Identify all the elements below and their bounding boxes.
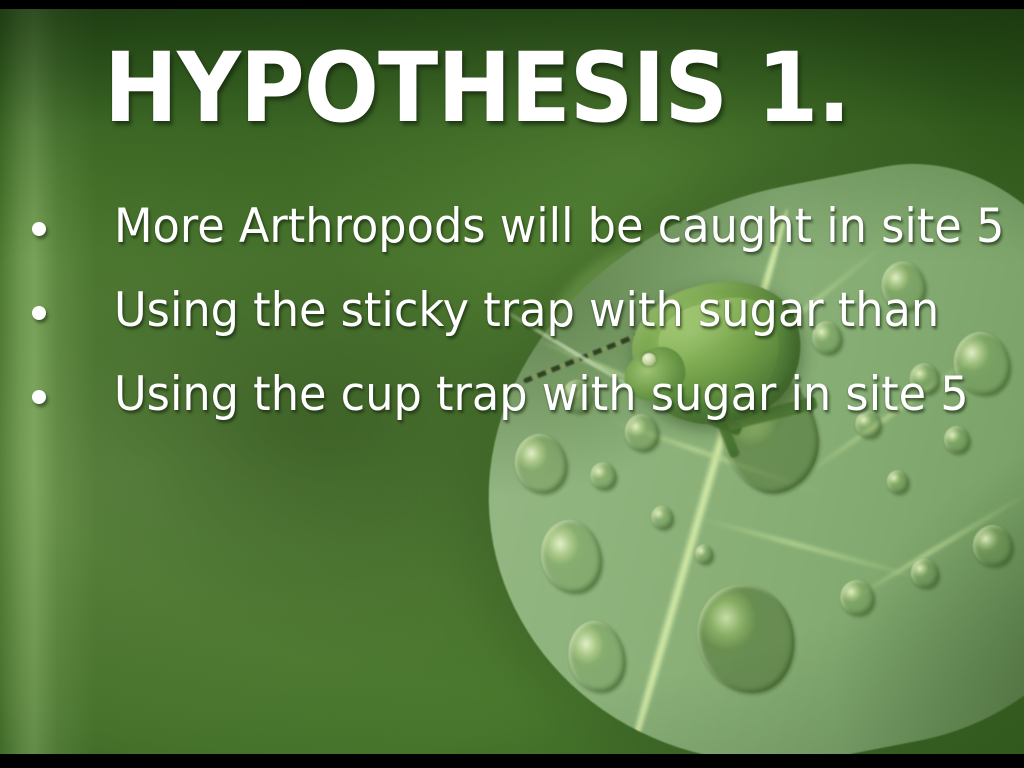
letterbox-bar-top <box>0 0 1024 9</box>
list-item: Using the cup trap with sugar in site 5 <box>0 364 1024 448</box>
letterbox-bar-bottom <box>0 754 1024 768</box>
bullet-text: More Arthropods will be caught in site 5 <box>114 196 1004 258</box>
list-item: More Arthropods will be caught in site 5 <box>0 196 1024 280</box>
list-item: Using the sticky trap with sugar than <box>0 280 1024 364</box>
bullet-text: Using the cup trap with sugar in site 5 <box>114 364 969 426</box>
bullet-dot-icon <box>32 306 46 320</box>
bullet-text: Using the sticky trap with sugar than <box>114 280 939 342</box>
bullet-list: More Arthropods will be caught in site 5… <box>0 196 1024 448</box>
bullet-dot-icon <box>32 390 46 404</box>
bullet-dot-icon <box>32 222 46 236</box>
slide-title: HYPOTHESIS 1. <box>104 40 850 136</box>
presentation-slide: HYPOTHESIS 1. More Arthropods will be ca… <box>0 0 1024 768</box>
